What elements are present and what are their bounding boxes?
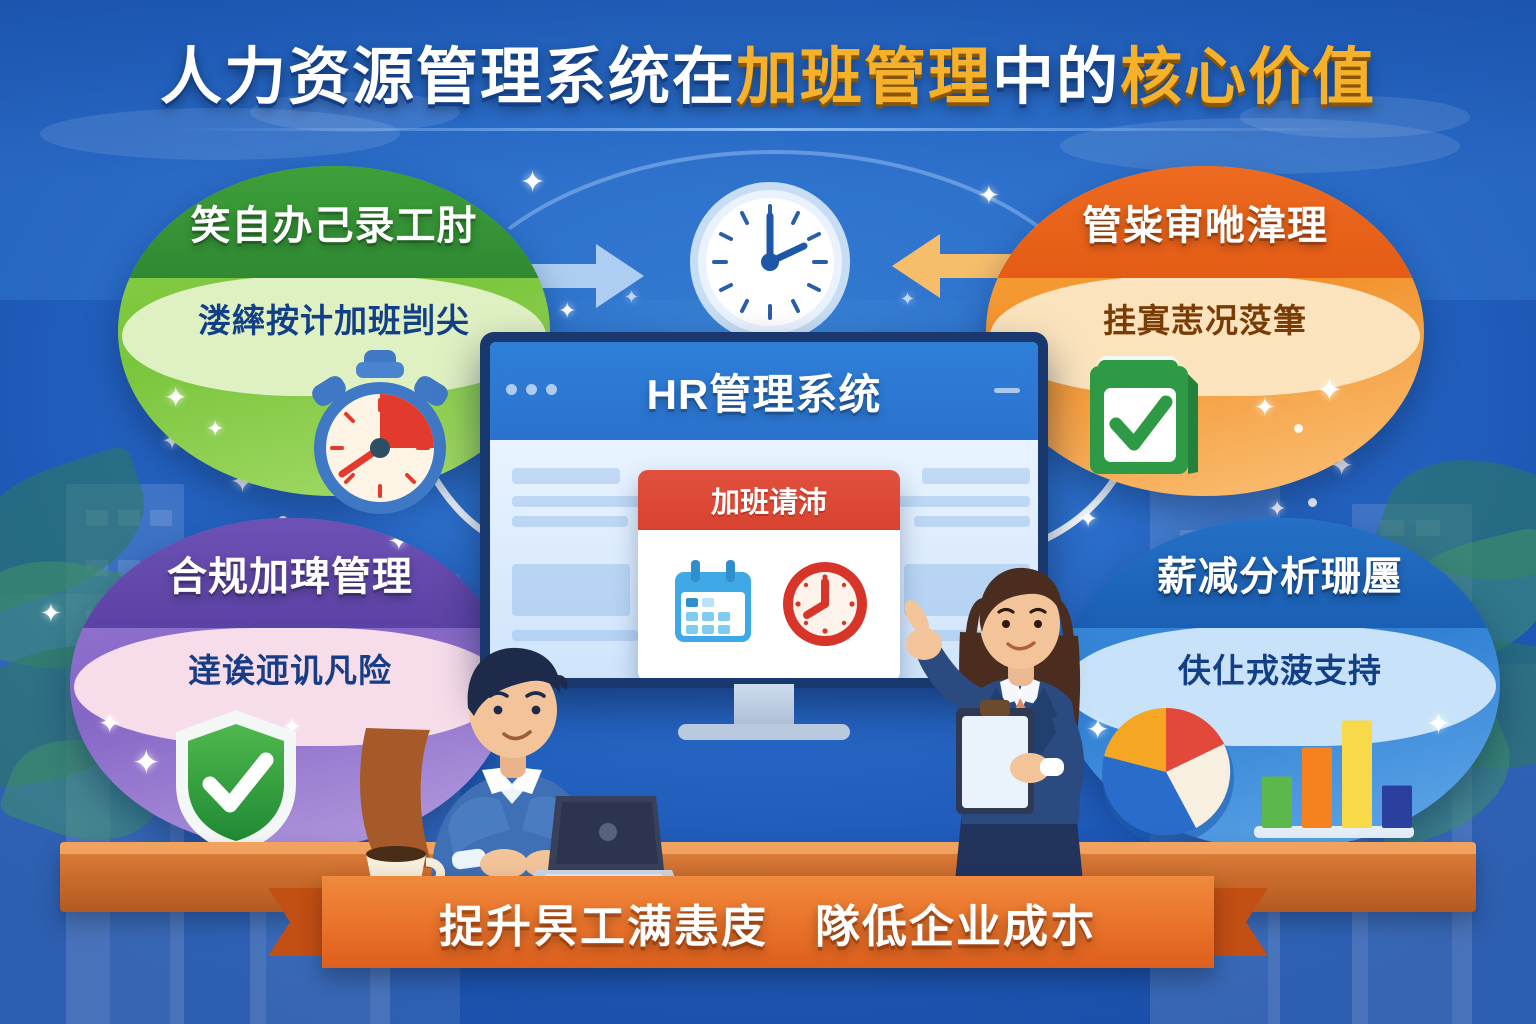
shield-check-icon: [166, 706, 306, 858]
sparkle-icon: ✦: [1268, 498, 1286, 520]
sparkle-icon: ✦: [98, 710, 121, 738]
card-compliance-title: 合规加琕管理: [70, 518, 510, 628]
sparkle-icon: ✦: [1426, 710, 1451, 740]
title-highlight-segment: 核心价值: [1120, 43, 1376, 112]
hr-manager-illustration: [900, 562, 1140, 892]
bar-chart-bar: [1382, 785, 1412, 828]
employee-at-desk-illustration: [360, 618, 690, 898]
checklist-icon: [1084, 352, 1206, 482]
card-auto-title: 笑自办己录工肘: [118, 166, 550, 278]
bottom-banner: 捉升昗工满恚庋 隊低企业成朩: [268, 876, 1268, 968]
dialog-title: 加班请沛: [638, 470, 900, 530]
stopwatch-icon: [298, 348, 462, 518]
clock-icon: [779, 558, 871, 655]
sparkle-icon: ✦: [1316, 374, 1343, 406]
sparkle-icon: ✦: [132, 746, 161, 780]
banner-text: 捉升昗工满恚庋 隊低企业成朩: [439, 890, 1097, 955]
banner-body: 捉升昗工满恚庋 隊低企业成朩: [322, 876, 1214, 968]
sparkle-icon: ✦: [40, 600, 62, 626]
card-approval-title: 管粊审咃湋理: [986, 166, 1424, 278]
window-dots-icon: [506, 384, 557, 395]
monitor-neck: [734, 684, 794, 728]
sparkle-icon: ✦: [518, 184, 540, 210]
monitor-app-title: HR管理系统: [647, 361, 882, 422]
sparkle-dot: [1308, 498, 1317, 507]
page-title: 人力资源管理系统在加班管理中的核心价值: [0, 26, 1536, 116]
sparkle-icon: ✦: [206, 418, 224, 440]
sparkle-icon: ✦: [164, 384, 187, 412]
sparkle-icon: ✦: [1076, 528, 1098, 554]
bar-chart-bar: [1262, 776, 1292, 828]
page-title-text: 人力资源管理系统在加班管理中的核心价值: [0, 26, 1536, 116]
title-highlight-segment: 加班管理: [736, 43, 992, 112]
monitor-titlebar: HR管理系统: [490, 342, 1038, 440]
desk-edge: [60, 842, 1476, 854]
bar-chart-icon: [1248, 700, 1420, 850]
title-segment: 人力资源管理系统在: [160, 43, 736, 112]
card-approval-subtitle: 挂寘䓌况莈筆: [986, 294, 1424, 342]
sparkle-dot: [1294, 424, 1303, 433]
bar-chart-bar: [1342, 720, 1372, 828]
monitor-base: [678, 724, 850, 740]
infographic-canvas: ✦ ✦ ✦ ✦ ✦ ✦ ✦ ✦ ✦ ✦ ✦ ✦ 人力资源管理系统在加班管理中的核…: [0, 0, 1536, 1024]
title-segment: 中的: [992, 43, 1120, 112]
sparkle-icon: ✦: [1254, 394, 1276, 420]
minimize-icon[interactable]: [994, 388, 1020, 393]
wall-clock-icon: [686, 178, 854, 346]
bar-chart-bar: [1302, 747, 1332, 828]
title-divider: [170, 128, 1366, 131]
sparkle-icon: ✦: [388, 528, 410, 554]
